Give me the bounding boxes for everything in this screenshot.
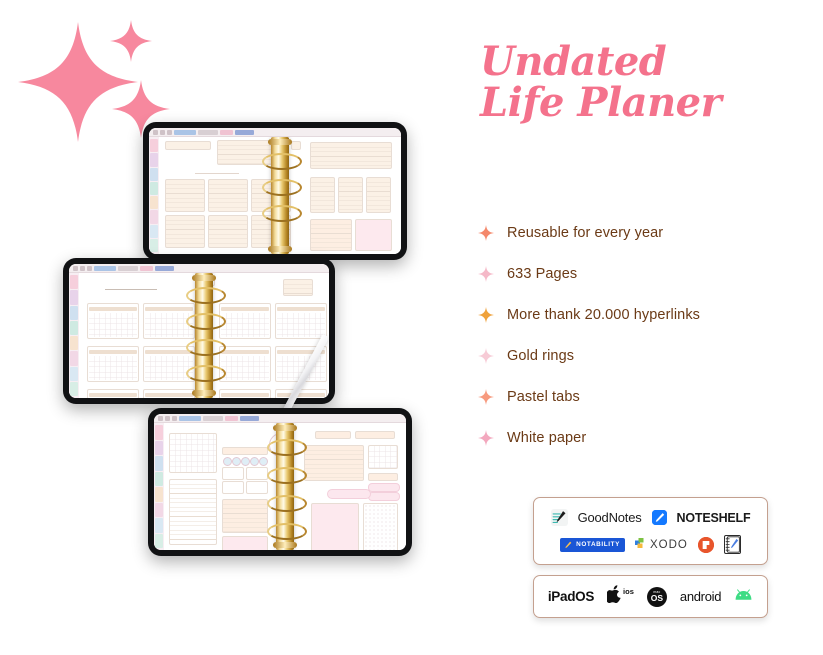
toolbar-tab-workout[interactable]: [235, 130, 254, 135]
mini-calendar: [219, 389, 271, 398]
side-tabs-left[interactable]: [149, 137, 159, 254]
app-toolbar[interactable]: [154, 414, 406, 423]
mood-tracker-header: [222, 447, 268, 455]
toolbar-tab-overview[interactable]: [198, 130, 218, 135]
planner-page: [154, 423, 406, 550]
flexcil-icon: [698, 537, 714, 553]
platform-name-android: android: [680, 589, 721, 604]
page-content: [79, 273, 329, 398]
month-cell: [310, 177, 335, 213]
toolbar-tab-dashboard[interactable]: [174, 130, 196, 135]
platform-name-macos: OS: [651, 594, 663, 603]
app-name-goodnotes: GoodNotes: [578, 510, 642, 525]
feature-item: Reusable for every year: [478, 212, 823, 253]
xodo-icon: [635, 536, 647, 554]
supported-platforms-badge: iPadOS ios mac OS android: [533, 575, 768, 618]
tablet-mockup-year-overview: [63, 258, 335, 404]
app-toolbar[interactable]: [69, 264, 329, 273]
mood-circle: [232, 457, 241, 466]
toolbar-tab-share[interactable]: [225, 416, 238, 421]
note-chip: [283, 279, 313, 296]
toolbar-tab-workout[interactable]: [240, 416, 259, 421]
feature-label: Pastel tabs: [507, 389, 580, 405]
money-in-field: [368, 483, 400, 492]
feature-label: Gold rings: [507, 348, 574, 364]
feature-item: Pastel tabs: [478, 376, 823, 417]
tablet-screen: [69, 264, 329, 398]
mini-calendar: [87, 346, 139, 382]
toolbar-tab-overview[interactable]: [203, 416, 223, 421]
xodo-badge: XODO: [635, 536, 688, 554]
feature-list: Reusable for every year 633 Pages More t…: [478, 212, 823, 458]
notes-lined-block: [310, 219, 352, 251]
meal-lunch: [246, 467, 268, 480]
noteshelf-icon: [652, 510, 667, 525]
sparkle-small-icon: [110, 20, 152, 62]
mini-calendar: [143, 389, 195, 398]
binder-rings: [195, 273, 213, 398]
notability-icon: NOTABILITY: [560, 538, 625, 552]
app-toolbar[interactable]: [149, 128, 401, 137]
platform-name-ipados: iPadOS: [548, 589, 594, 604]
planner-page: [69, 273, 329, 398]
mood-circle: [250, 457, 259, 466]
menu-icon[interactable]: [158, 416, 163, 421]
year-underline: [105, 289, 157, 290]
sparkle-bullet-icon: [478, 430, 494, 446]
tablet-mockup-daily-planner: [148, 408, 412, 556]
platform-name-ios: ios: [623, 587, 634, 596]
tablet-screen: [149, 128, 401, 254]
reflection-block: [222, 536, 268, 550]
mini-calendar: [275, 389, 327, 398]
platform-ios: ios: [607, 585, 634, 608]
meal-breakfast: [222, 467, 244, 480]
page-content: [159, 137, 401, 254]
wishlist-block: [304, 445, 364, 481]
habit-grid: [368, 445, 398, 469]
grid-icon[interactable]: [160, 130, 165, 135]
android-icon: [734, 588, 753, 606]
feature-label: 633 Pages: [507, 266, 577, 282]
pink-note-block: [355, 219, 392, 251]
mini-calendar: [87, 303, 139, 339]
grid-icon[interactable]: [80, 266, 85, 271]
month-mini-calendar: [169, 433, 217, 473]
pen-icon[interactable]: [87, 266, 92, 271]
pen-icon[interactable]: [167, 130, 172, 135]
tablet-screen: [154, 414, 406, 550]
mini-calendar: [87, 389, 139, 398]
notebook-icon: [724, 535, 741, 554]
toolbar-tab-share[interactable]: [220, 130, 233, 135]
money-tracker-header: [368, 473, 398, 481]
big-pink-note: [311, 503, 359, 550]
menu-icon[interactable]: [153, 130, 158, 135]
feature-item: 633 Pages: [478, 253, 823, 294]
toolbar-tab-dashboard[interactable]: [179, 416, 201, 421]
page-title: Undated Life Planer: [480, 42, 820, 124]
macos-icon: mac OS: [647, 587, 667, 607]
planner-page: [149, 137, 401, 254]
month-cell: [208, 179, 248, 212]
app-name-notability: NOTABILITY: [576, 541, 620, 548]
mini-calendar: [219, 303, 271, 339]
binder-rings: [276, 423, 294, 550]
feature-label: Reusable for every year: [507, 225, 663, 241]
feature-label: More thank 20.000 hyperlinks: [507, 307, 700, 323]
toolbar-tab-share[interactable]: [140, 266, 153, 271]
title-line-1: Undated: [480, 42, 820, 83]
morning-tasks-block: [222, 499, 268, 533]
toolbar-tab-overview[interactable]: [118, 266, 138, 271]
side-tabs-left[interactable]: [154, 423, 164, 550]
supported-apps-badge: GoodNotes NOTESHELF NOTABILITY: [533, 497, 768, 565]
sparkle-bullet-icon: [478, 389, 494, 405]
grid-icon[interactable]: [165, 416, 170, 421]
sparkle-bullet-icon: [478, 225, 494, 241]
mood-circle: [259, 457, 268, 466]
water-tracker: [315, 431, 351, 439]
apps-row-1: GoodNotes NOTESHELF: [542, 504, 759, 531]
sparkle-bullet-icon: [478, 348, 494, 364]
month-cell: [208, 215, 248, 248]
goodnotes-icon: [551, 509, 568, 526]
apple-icon: [607, 585, 622, 608]
important-block: [310, 142, 392, 169]
promo-graphic: Undated Life Planer Reusable for every y…: [0, 0, 823, 655]
toolbar-tab-dashboard[interactable]: [94, 266, 116, 271]
month-cell: [338, 177, 363, 213]
feature-item: White paper: [478, 417, 823, 458]
icon-block: [291, 141, 301, 150]
tablet-mockup-key-dates: [143, 122, 407, 260]
page-content: [164, 423, 406, 550]
money-out-field: [368, 492, 400, 501]
mood-circle: [223, 457, 232, 466]
meal-snacks: [246, 481, 268, 494]
sparkle-bullet-icon: [478, 266, 494, 282]
weather-tracker: [355, 431, 395, 439]
meal-dinner: [222, 481, 244, 494]
page-title-chip: [165, 141, 211, 150]
month-cell: [366, 177, 391, 213]
plan-of-the-day-chip: [327, 489, 371, 499]
dotted-note: [363, 503, 398, 550]
mini-calendar: [275, 303, 327, 339]
binder-rings: [271, 137, 289, 254]
divider: [195, 173, 239, 174]
mood-circle: [241, 457, 250, 466]
feature-item: Gold rings: [478, 335, 823, 376]
apps-row-2: NOTABILITY XODO: [542, 531, 759, 558]
side-tabs-left[interactable]: [69, 273, 79, 398]
month-cell: [165, 179, 205, 212]
toolbar-tab-workout[interactable]: [155, 266, 174, 271]
app-name-noteshelf: NOTESHELF: [677, 511, 751, 525]
month-cell: [165, 215, 205, 248]
todo-list-block: [169, 479, 217, 545]
pen-icon[interactable]: [172, 416, 177, 421]
info-panel: Undated Life Planer Reusable for every y…: [478, 0, 823, 655]
feature-label: White paper: [507, 430, 586, 446]
mini-calendar: [219, 346, 271, 382]
app-name-xodo: XODO: [650, 539, 688, 551]
title-line-2: Life Planer: [480, 83, 820, 124]
feature-item: More thank 20.000 hyperlinks: [478, 294, 823, 335]
menu-icon[interactable]: [73, 266, 78, 271]
sparkle-bullet-icon: [478, 307, 494, 323]
